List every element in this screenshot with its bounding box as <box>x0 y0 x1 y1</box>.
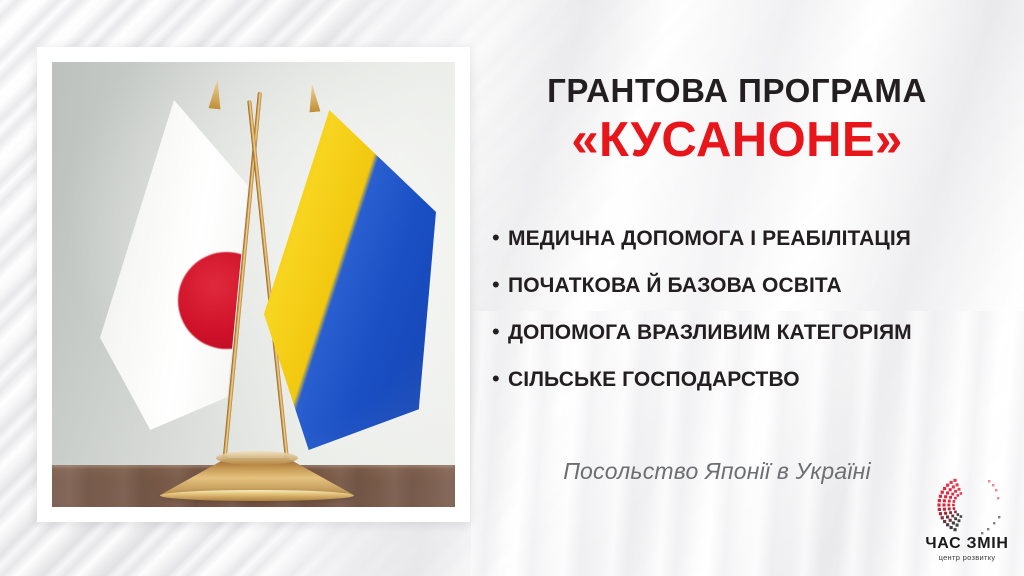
logo-name: ЧАС ЗМІН <box>915 535 1019 553</box>
list-item: • СІЛЬСЬКЕ ГОСПОДАРСТВО <box>492 368 992 415</box>
list-item-label: СІЛЬСЬКЕ ГОСПОДАРСТВО <box>508 368 800 392</box>
flag-stand-knob <box>216 451 298 465</box>
headline-program-label: ГРАНТОВА ПРОГРАМА <box>497 74 977 109</box>
list-item-label: ПОЧАТКОВА Й БАЗОВА ОСВІТА <box>508 274 842 298</box>
flag-stand-rim <box>160 490 354 501</box>
list-item-label: МЕДИЧНА ДОПОМОГА І РЕАБІЛІТАЦІЯ <box>508 227 911 251</box>
bullet-icon: • <box>492 368 508 390</box>
photo-frame <box>37 47 470 522</box>
flags-photo <box>52 62 455 507</box>
headline-program-name: «КУСАНОНЕ» <box>497 115 977 166</box>
program-areas-list: • МЕДИЧНА ДОПОМОГА І РЕАБІЛІТАЦІЯ • ПОЧА… <box>492 227 992 415</box>
bullet-icon: • <box>492 227 508 249</box>
bullet-icon: • <box>492 321 508 343</box>
list-item: • МЕДИЧНА ДОПОМОГА І РЕАБІЛІТАЦІЯ <box>492 227 992 274</box>
dotted-c-logo-icon <box>929 475 1003 537</box>
embassy-attribution: Посольство Японії в Україні <box>497 458 937 485</box>
list-item-label: ДОПОМОГА ВРАЗЛИВИМ КАТЕГОРІЯМ <box>508 321 912 345</box>
page-title: ГРАНТОВА ПРОГРАМА «КУСАНОНЕ» <box>497 74 977 166</box>
logo-tagline: центр розвитку <box>915 553 1019 562</box>
organization-logo: ЧАС ЗМІН центр розвитку <box>915 475 1019 571</box>
bullet-icon: • <box>492 274 508 296</box>
list-item: • ДОПОМОГА ВРАЗЛИВИМ КАТЕГОРІЯМ <box>492 321 992 368</box>
list-item: • ПОЧАТКОВА Й БАЗОВА ОСВІТА <box>492 274 992 321</box>
presentation-slide: ГРАНТОВА ПРОГРАМА «КУСАНОНЕ» • МЕДИЧНА Д… <box>0 0 1024 576</box>
